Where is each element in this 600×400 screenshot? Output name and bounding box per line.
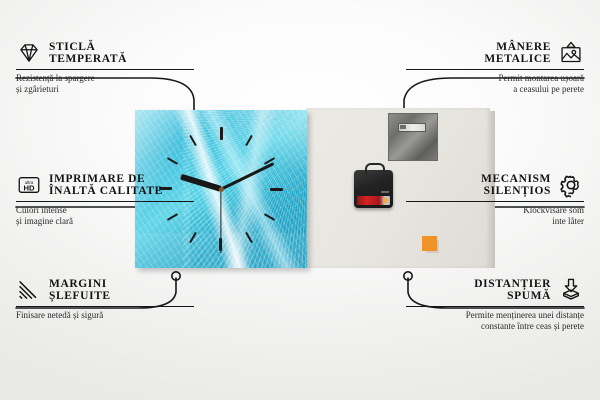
foam-spacer-icon: [558, 277, 584, 303]
movement-notch: [381, 191, 389, 193]
feature-glass-title: STICLĂ TEMPERATĂ: [49, 41, 127, 66]
feature-print-title: IMPRIMARE DE ÎNALTĂ CALITATE: [49, 173, 163, 198]
feature-edges-head: MARGINI ȘLEFUITE: [16, 277, 194, 306]
metal-hanger: [388, 113, 438, 161]
feature-handles-head: MÂNERE METALICE: [406, 40, 584, 69]
battery: [357, 196, 390, 205]
feature-handles-desc: Permit montarea ușoară a ceasului pe per…: [406, 70, 584, 95]
feature-spacer-head: DISTANȚIER SPUMĂ: [406, 277, 584, 306]
feature-handles: MÂNERE METALICE Permit montarea ușoară a…: [406, 40, 584, 95]
diamond-icon: [16, 40, 42, 66]
movement-hanging-loop: [365, 163, 385, 175]
feature-glass-head: STICLĂ TEMPERATĂ: [16, 40, 194, 69]
feature-mechanism-desc: Klockvisare som inte låter: [406, 202, 584, 227]
hanger-slot: [398, 123, 426, 132]
feature-edges-title: MARGINI ȘLEFUITE: [49, 278, 111, 303]
gear-icon: [558, 172, 584, 198]
feature-glass-desc: Rezistență la spargere și zgârieturi: [16, 70, 194, 95]
foam-spacer: [422, 236, 437, 251]
quartz-movement: [354, 170, 393, 208]
feature-handles-title: MÂNERE METALICE: [484, 41, 551, 66]
clock-tick: [220, 127, 222, 189]
feature-spacer-title: DISTANȚIER SPUMĂ: [474, 278, 551, 303]
feature-edges: MARGINI ȘLEFUITE Finisare netedă și sigu…: [16, 277, 194, 321]
feature-mechanism: MECANISM SILENȚIOS Klockvisare som inte …: [406, 172, 584, 227]
feature-mechanism-title: MECANISM SILENȚIOS: [481, 173, 551, 198]
feature-print: ultra HD IMPRIMARE DE ÎNALTĂ CALITATE Cu…: [16, 172, 194, 227]
svg-text:HD: HD: [23, 183, 35, 192]
feature-glass: STICLĂ TEMPERATĂ Rezistență la spargere …: [16, 40, 194, 95]
feature-print-desc: Culori intense și imagine clară: [16, 202, 194, 227]
feature-edges-desc: Finisare netedă și sigură: [16, 307, 194, 321]
hanging-frame-icon: [558, 40, 584, 66]
polished-edges-icon: [16, 277, 42, 303]
ultra-hd-icon: ultra HD: [16, 172, 42, 198]
clock-tick: [221, 188, 283, 190]
feature-mechanism-head: MECANISM SILENȚIOS: [406, 172, 584, 201]
product-infographic: STICLĂ TEMPERATĂ Rezistență la spargere …: [0, 0, 600, 400]
feature-spacer-desc: Permite menținerea unei distanțe constan…: [406, 307, 584, 332]
feature-spacer: DISTANȚIER SPUMĂ Permite menținerea unei…: [406, 277, 584, 332]
clock-center-cap: [219, 187, 224, 192]
feature-print-head: ultra HD IMPRIMARE DE ÎNALTĂ CALITATE: [16, 172, 194, 201]
